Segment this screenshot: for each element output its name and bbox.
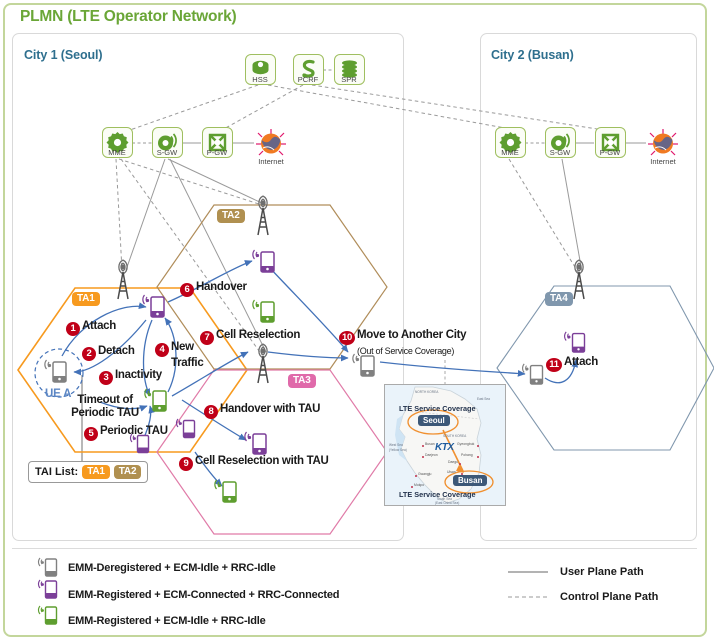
korea-map-inset: LTE Service Coverage Seoul Busan LTE Ser… — [384, 384, 506, 506]
legend-icon-connected — [36, 578, 62, 602]
map-caption-top: LTE Service Coverage — [399, 404, 476, 413]
map-label-west-sea: West Sea — [389, 443, 403, 447]
ue-a-label: UE A — [45, 388, 71, 400]
map-label-west-sea-alt: (Yellow Sea) — [389, 448, 407, 452]
map-dot-4 — [477, 445, 479, 447]
step-3-inactivity: 3Inactivity — [99, 369, 162, 385]
step-5-num: 5 — [84, 427, 98, 441]
step-6-handover: 6Handover — [180, 281, 247, 297]
ue-device-purple-ta4[interactable] — [562, 330, 590, 356]
ue-device-purple-boundary[interactable] — [174, 417, 200, 441]
legend-icon-idle — [36, 604, 62, 628]
step-9-label: Cell Reselection with TAU — [195, 455, 329, 467]
ue-device-purple-ta3[interactable] — [242, 430, 272, 458]
ue-device-grey-ta4[interactable] — [520, 362, 548, 388]
map-label-north-korea: NORTH KOREA — [415, 390, 438, 394]
step-6-label: Handover — [196, 281, 247, 293]
node-spr-label: SPR — [325, 75, 373, 84]
step-11-num: 11 — [546, 358, 562, 372]
page-title: PLMN (LTE Operator Network) — [20, 8, 237, 26]
step-10-move-to-another-city: 10Move to Another City (Out of Service C… — [339, 329, 466, 357]
legend-label-deregistered: EMM-Deregistered + ECM-Idle + RRC-Idle — [68, 562, 276, 574]
ue-device-purple-ta2[interactable] — [250, 248, 280, 276]
step-8-handover-with-tau: 8Handover with TAU — [204, 403, 320, 419]
tai-list-item-ta2: TA2 — [114, 465, 142, 479]
step-10-label: Move to Another City — [357, 329, 466, 341]
step-2-num: 2 — [82, 347, 96, 361]
internet-icon-city1 — [255, 128, 287, 158]
map-town-5: Pohang — [461, 453, 473, 457]
map-town-4: Gyeongbuk — [457, 442, 474, 446]
map-town-3: Mokpo — [414, 483, 424, 487]
map-dot-0 — [422, 445, 424, 447]
tag-ta1: TA1 — [72, 292, 100, 306]
legend-label-connected: EMM-Registered + ECM-Connected + RRC-Con… — [68, 589, 339, 601]
step-7-label: Cell Reselection — [216, 329, 300, 341]
map-dot-2 — [415, 475, 417, 477]
node-pgw-city2-label: P-GW — [586, 148, 634, 157]
internet-icon-city2 — [647, 128, 679, 158]
step-8-num: 8 — [204, 405, 218, 419]
legend-label-user-plane: User Plane Path — [560, 566, 644, 578]
step-1-label: Attach — [82, 320, 116, 332]
step-7-num: 7 — [200, 331, 214, 345]
tag-ta4: TA4 — [545, 292, 573, 306]
node-hss-label: HSS — [236, 75, 284, 84]
step-3-num: 3 — [99, 371, 113, 385]
enodeb-ta1 — [106, 258, 140, 300]
node-sgw-city1-label: S-GW — [143, 148, 191, 157]
ue-device-grey-uea[interactable] — [42, 358, 72, 386]
tag-ta2: TA2 — [217, 209, 245, 223]
city1-title: City 1 (Seoul) — [24, 48, 102, 62]
map-city-seoul: Seoul — [418, 415, 450, 426]
step-4-num: 4 — [155, 343, 169, 357]
map-town-2: Gwangju — [418, 472, 431, 476]
ue-device-green-ta3[interactable] — [212, 478, 242, 506]
step-10-num: 10 — [339, 331, 355, 345]
step-9-num: 9 — [179, 457, 193, 471]
step-5-label: Periodic TAU — [100, 425, 168, 437]
legend-separator — [12, 548, 697, 549]
map-town-1: Daejeon — [425, 453, 438, 457]
step-8-label: Handover with TAU — [220, 403, 320, 415]
map-label-south-korea: SOUTH KOREA — [443, 434, 466, 438]
tai-list-label: TAI List: — [35, 466, 78, 478]
timeout-periodic-tau-label: Timeout ofPeriodic TAU — [63, 394, 147, 419]
step-9-cell-reselection-with-tau: 9Cell Reselection with TAU — [179, 455, 329, 471]
timeout-line2: Periodic TAU — [71, 407, 139, 419]
enodeb-ta3 — [246, 342, 280, 384]
enodeb-ta2 — [246, 194, 280, 236]
map-dot-1 — [422, 456, 424, 458]
map-label-east-sea: East Sea — [477, 397, 490, 401]
map-dot-3 — [411, 486, 413, 488]
map-ktx-label: KTX — [435, 442, 454, 453]
node-mme-city2-label: MME — [486, 148, 534, 157]
step-5-periodic-tau: 5Periodic TAU — [84, 425, 168, 441]
step-1-attach: 1Attach — [66, 320, 116, 336]
tai-list-box: TAI List: TA1 TA2 — [28, 461, 148, 483]
internet-city2-label: Internet — [639, 157, 687, 166]
map-city-busan: Busan — [453, 475, 487, 486]
ue-device-green-ta2[interactable] — [250, 298, 280, 326]
node-mme-city1-label: MME — [93, 148, 141, 157]
map-dot-7 — [461, 473, 463, 475]
step-2-detach: 2Detach — [82, 345, 135, 361]
step-11-label: Attach — [564, 356, 598, 368]
internet-city1-label: Internet — [247, 157, 295, 166]
step-11-attach: 11Attach — [546, 356, 598, 372]
legend-label-idle: EMM-Registered + ECM-Idle + RRC-Idle — [68, 615, 266, 627]
timeout-line1: Timeout of — [77, 394, 133, 406]
map-label-south-sea-alt: (East China Sea) — [435, 501, 459, 505]
step-1-num: 1 — [66, 322, 80, 336]
step-6-num: 6 — [180, 283, 194, 297]
legend-label-control-plane: Control Plane Path — [560, 591, 658, 603]
node-sgw-city2-label: S-GW — [536, 148, 584, 157]
legend-icon-deregistered — [36, 556, 62, 580]
map-town-0: Busan — [425, 442, 435, 446]
node-pgw-city1-label: P-GW — [193, 148, 241, 157]
map-town-6: Daegu — [448, 460, 458, 464]
ue-device-purple-ta1[interactable] — [140, 293, 170, 321]
step-4-new-traffic: 4NewTraffic — [155, 341, 203, 370]
step-3-label: Inactivity — [115, 369, 162, 381]
tai-list-item-ta1: TA1 — [82, 465, 110, 479]
map-dot-5 — [477, 456, 479, 458]
step-10-sublabel: (Out of Service Coverage) — [357, 346, 454, 356]
city2-title: City 2 (Busan) — [491, 48, 574, 62]
map-dot-6 — [459, 463, 461, 465]
step-4-label-line2: Traffic — [171, 357, 203, 369]
tag-ta3: TA3 — [288, 374, 316, 388]
map-town-7: Ulsan — [447, 470, 456, 474]
step-4-label-line1: New — [171, 341, 194, 353]
step-2-label: Detach — [98, 345, 135, 357]
step-7-cell-reselection: 7Cell Reselection — [200, 329, 300, 345]
